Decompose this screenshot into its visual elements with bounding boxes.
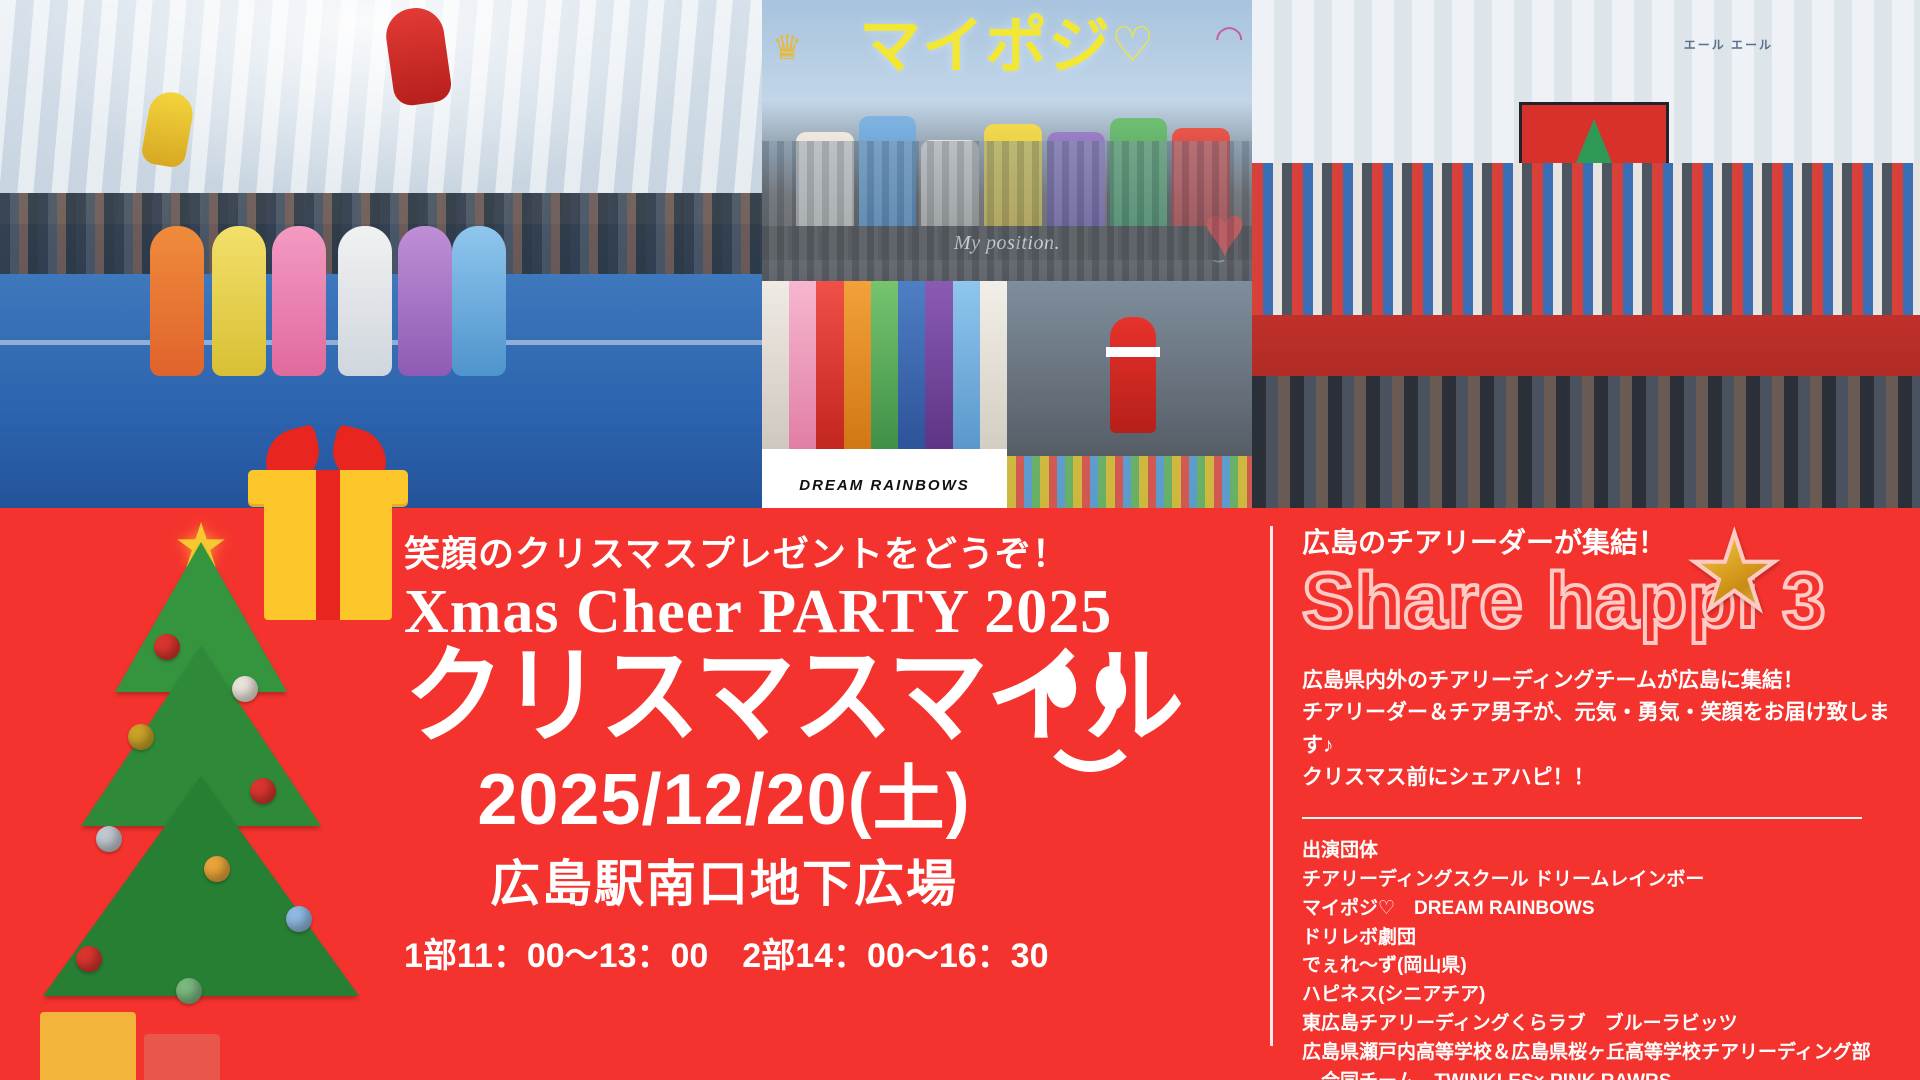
ornament: [128, 724, 154, 750]
ornament: [76, 946, 102, 972]
kid: [859, 116, 917, 228]
photo-santa-cheer: [1007, 281, 1252, 508]
performer-list-title: 出演団体: [1302, 837, 1902, 866]
kid: [1110, 118, 1168, 228]
photo-mypoji: ♛ ◠ ♡♡ ☺ マイポジ♡ My position. ♥: [762, 0, 1252, 281]
performer-item: 東広島チアリーディングくらラブ ブルーラビッツ: [1302, 1010, 1902, 1039]
tagline: 笑顔のクリスマスプレゼントをどうぞ！: [404, 534, 1044, 574]
description-line: クリスマス前にシェアハピ！！: [1302, 762, 1902, 795]
santa-performer: [1110, 317, 1156, 433]
ornament: [232, 676, 258, 702]
photo-row-bottom: DREAM RAINBOWS: [762, 281, 1252, 508]
ornament: [250, 778, 276, 804]
cheer-dancer: [272, 226, 326, 376]
smile-doodle-icon: ☺: [1201, 232, 1236, 271]
gift-ribbon-vertical: [316, 470, 340, 620]
hall-sign: エール エール: [1684, 36, 1773, 53]
hall-participants: [1252, 163, 1920, 315]
event-times: 1部11：00〜13：00 2部14：00〜16：30: [404, 928, 1044, 977]
description-line: 広島県内外のチアリーディングチームが広島に集結！: [1302, 665, 1902, 698]
performer-item: 広島県瀬戸内高等学校＆広島県桜ヶ丘高等学校チアリーディング部: [1302, 1039, 1902, 1068]
gift-box-small: [40, 1012, 136, 1080]
horizontal-divider: [1302, 817, 1862, 819]
hall-audience: [1252, 376, 1920, 508]
kid: [984, 124, 1042, 228]
cheer-dancer: [398, 226, 452, 376]
performer-list: 出演団体 チアリーディングスクール ドリームレインボー マイポジ♡ DREAM …: [1302, 837, 1902, 1080]
gold-star-icon: ★: [1688, 521, 1782, 625]
cheer-dancer: [452, 226, 506, 376]
ornament: [204, 856, 230, 882]
dream-rainbows-brand: DREAM RAINBOWS: [762, 477, 1007, 494]
performer-item: ドリレボ劇団: [1302, 924, 1902, 953]
gift-box-small: [144, 1034, 220, 1080]
photo-group-hall: エール エール: [1252, 0, 1920, 508]
gym-ceiling: [0, 0, 762, 224]
kid: [921, 140, 979, 228]
event-description: 広島県内外のチアリーディングチームが広島に集結！ チアリーダー＆チア男子が、元気…: [1302, 665, 1902, 795]
performer-item: 合同チーム TWINKLES× PINK RAWRS: [1302, 1068, 1902, 1080]
kid: [796, 132, 854, 228]
my-position-caption: My position.: [762, 232, 1252, 255]
smiley-mouth: [1038, 698, 1142, 772]
event-venue: 広島駅南口地下広場: [404, 844, 1044, 916]
photo-dream-rainbows: DREAM RAINBOWS: [762, 281, 1007, 508]
mypoji-logo-text: マイポジ: [859, 12, 1111, 81]
performer-item: ハピネス(シニアチア): [1302, 981, 1902, 1010]
performer-item: でぇれ〜ず(岡山県): [1302, 952, 1902, 981]
red-heart-icon: ♥: [1203, 196, 1246, 268]
vertical-divider: [1270, 526, 1273, 1046]
performer-item: マイポジ♡ DREAM RAINBOWS: [1302, 895, 1902, 924]
description-line: チアリーダー＆チア男子が、元気・勇気・笑顔をお届け致します♪: [1302, 697, 1902, 762]
rainbow-portraits: [762, 281, 1007, 449]
ornament: [96, 826, 122, 852]
info-panel: ★ 笑顔のクリスマスプレゼントをどうぞ！ Xm: [0, 508, 1920, 1080]
share-happi-brand: Share happi 3 ★: [1302, 561, 1902, 639]
cheer-dancer: [150, 226, 204, 376]
event-poster: ♛ ◠ ♡♡ ☺ マイポジ♡ My position. ♥: [0, 0, 1920, 1080]
ornament: [176, 978, 202, 1004]
ornament: [154, 634, 180, 660]
main-title: クリスマスマイル: [404, 643, 1044, 751]
smiley-face-icon: [1030, 658, 1150, 778]
right-headline: 広島のチアリーダーが集結！: [1302, 528, 1902, 559]
confetti-row: [1007, 456, 1252, 508]
photo-column-middle: ♛ ◠ ♡♡ ☺ マイポジ♡ My position. ♥: [762, 0, 1252, 508]
cheer-dancer: [212, 226, 266, 376]
kid: [1047, 132, 1105, 228]
english-title: Xmas Cheer PARTY 2025: [404, 580, 1044, 645]
kids-group: [796, 96, 1230, 228]
kid: [1172, 128, 1230, 228]
mypoji-heart-icon: ♡: [1111, 22, 1155, 70]
brick-wall: [762, 226, 1252, 260]
mypoji-logo: マイポジ♡: [762, 16, 1252, 78]
right-text-column: 広島のチアリーダーが集結！ Share happi 3 ★ 広島県内外のチアリー…: [1302, 528, 1902, 1080]
gift-box-large: [258, 426, 398, 564]
heart-doodle-icon: ♡♡: [776, 227, 837, 267]
ornament: [286, 906, 312, 932]
event-date: 2025/12/20(土): [404, 761, 1044, 840]
cheer-dancer: [338, 226, 392, 376]
left-text-column: 笑顔のクリスマスプレゼントをどうぞ！ Xmas Cheer PARTY 2025…: [404, 534, 1044, 977]
performer-item: チアリーディングスクール ドリームレインボー: [1302, 866, 1902, 895]
